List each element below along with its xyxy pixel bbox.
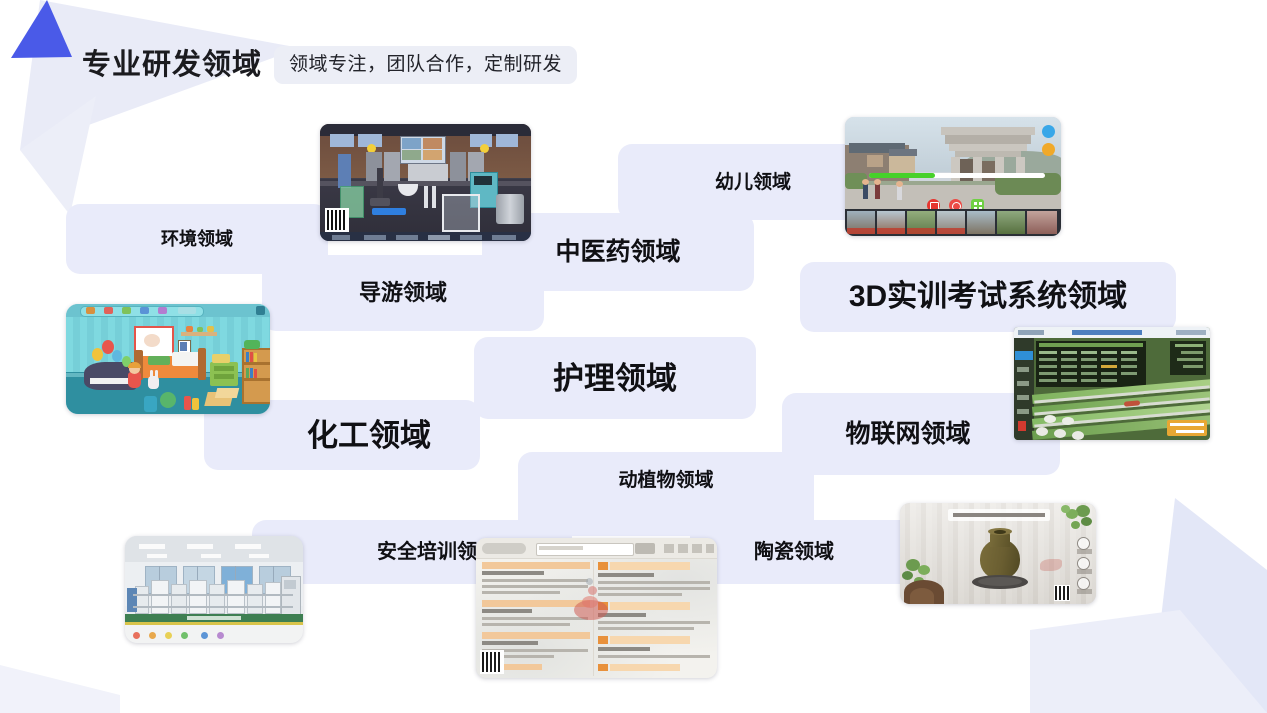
thumbnail-safety-lab[interactable] [125,536,303,643]
domain-label-ceramics: 陶瓷领域 [754,542,834,562]
deco-bottom-left-pale-band [0,655,120,713]
thumbnail-pottery-app[interactable] [900,503,1096,604]
domain-label-iot: 物联网领域 [845,422,970,447]
domain-label-environment: 环境领域 [161,230,233,248]
domain-pill-exam-3d[interactable]: 3D实训考试系统领域 [800,262,1176,332]
domain-label-tour-guide: 导游领域 [359,282,447,304]
domain-label-flora-fauna: 动植物领域 [618,471,713,490]
thumbnail-vr-tour[interactable] [845,117,1061,236]
thumbnail-kids-room[interactable] [66,304,270,414]
domain-pill-tour-guide[interactable]: 导游领域 [262,255,544,331]
domain-label-tcm: 中医药领域 [555,240,680,265]
page-header: 专业研发领域 领域专注，团队合作，定制研发 [82,46,577,84]
page-subtitle-badge: 领域专注，团队合作，定制研发 [274,46,577,84]
thumbnail-virtual-lab[interactable] [320,124,531,241]
thumbnail-iot-greenhouse[interactable] [1014,327,1210,440]
domain-label-chemical: 化工领域 [307,420,431,451]
portal-search-button [635,543,655,554]
domain-pill-nursing[interactable]: 护理领域 [474,337,756,419]
domain-pill-ceramics[interactable]: 陶瓷领域 [690,520,930,584]
deco-top-left-pale-arrow [0,0,330,220]
domain-label-exam-3d: 3D实训考试系统领域 [849,282,1127,312]
slide-canvas: 专业研发领域 领域专注，团队合作，定制研发 [0,0,1267,713]
thumbnail-knowledge-portal[interactable] [476,538,717,678]
domain-pill-preschool[interactable]: 幼儿领域 [618,144,862,220]
domain-label-preschool: 幼儿领域 [715,173,791,192]
domain-label-nursing: 护理领域 [553,363,677,394]
kids-sound-icon [256,306,265,315]
vr-info-icon [1042,125,1055,138]
vr-settings-icon [1042,143,1055,156]
page-title: 专业研发领域 [82,51,262,80]
